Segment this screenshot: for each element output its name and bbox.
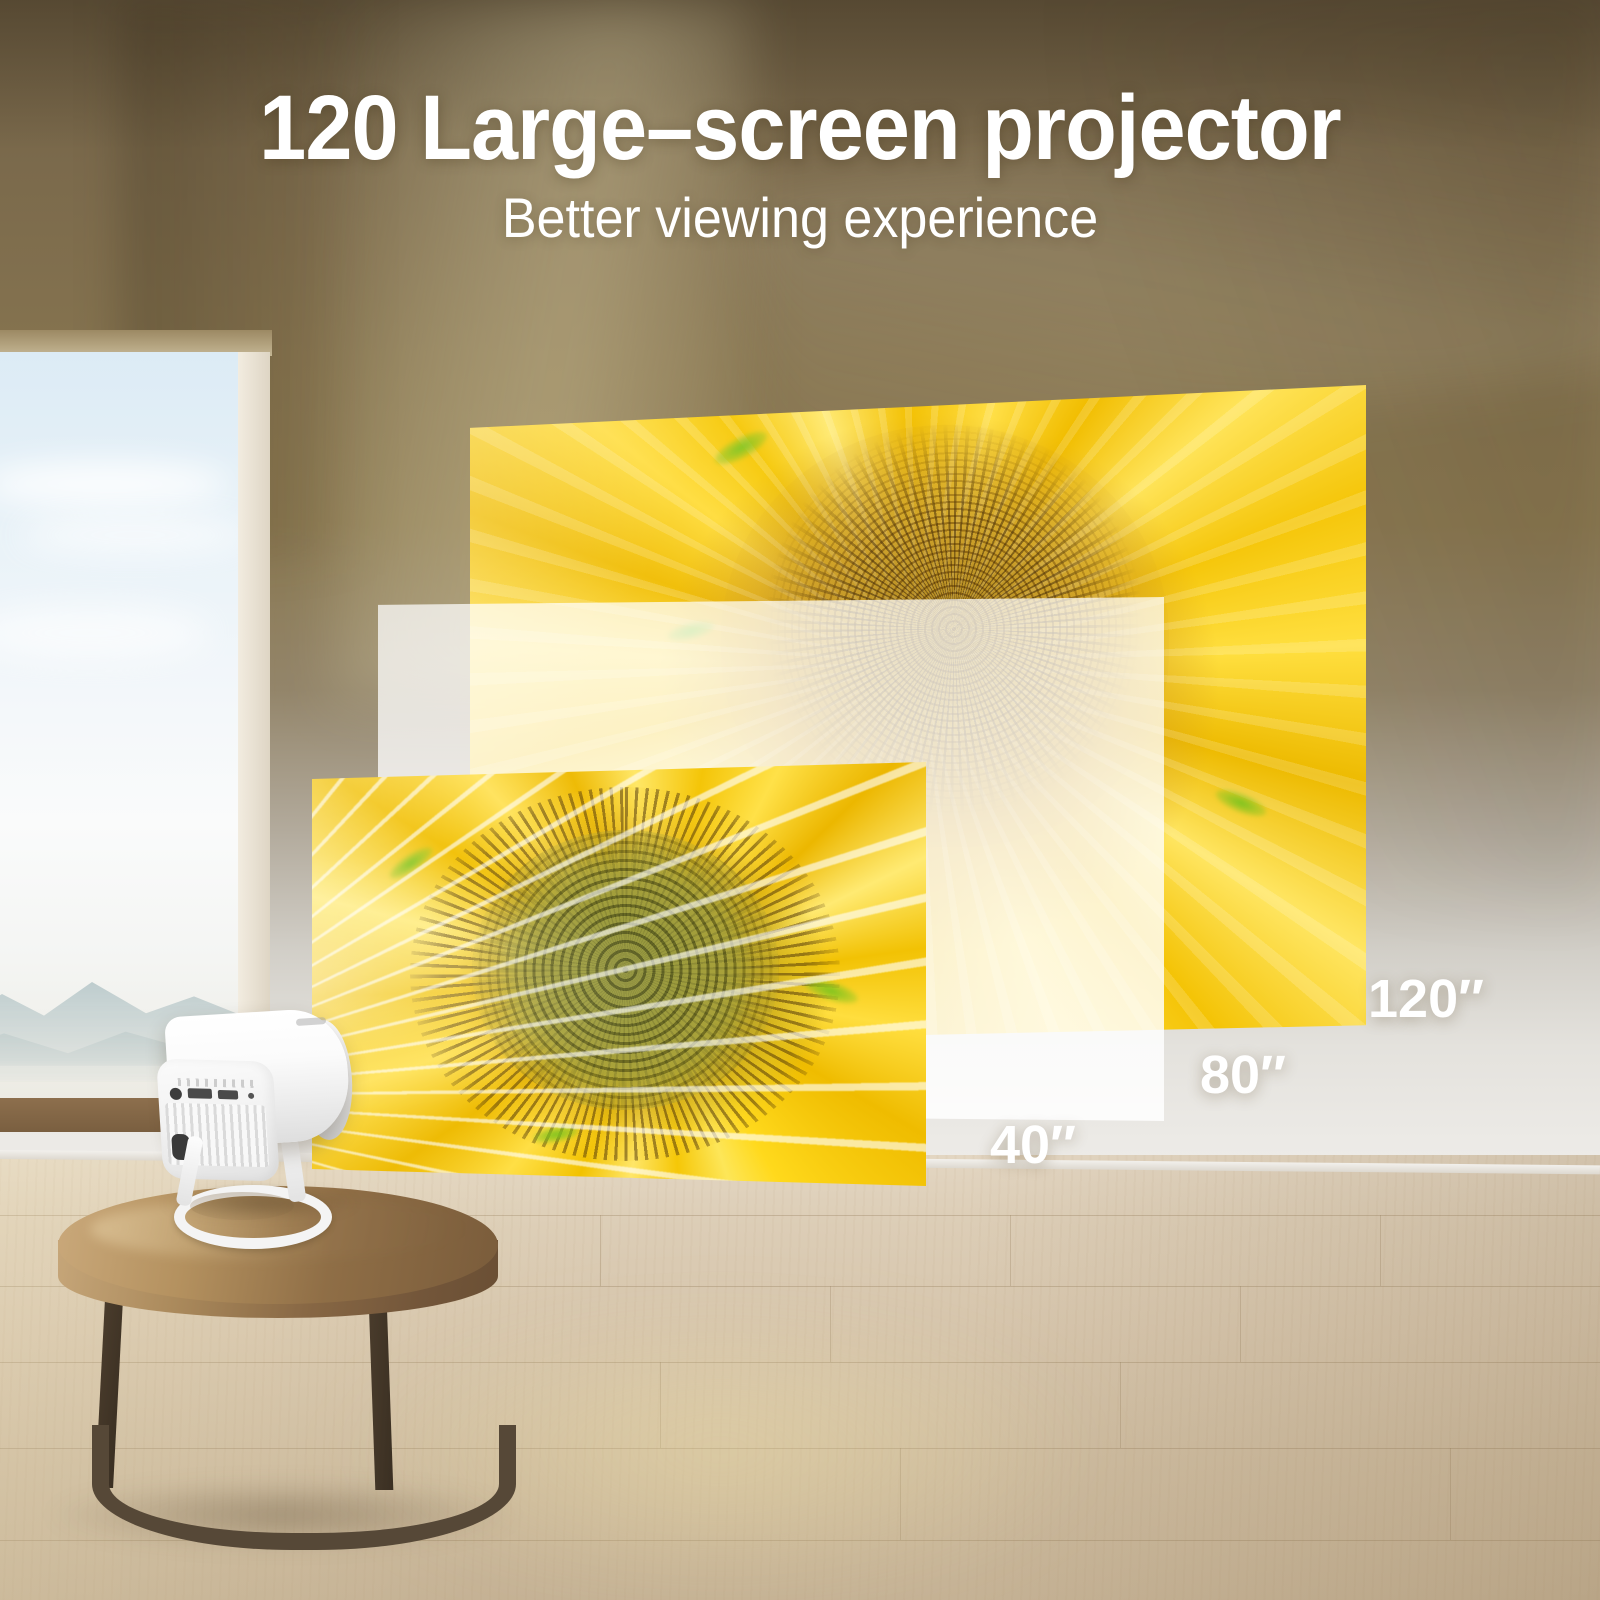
- cloud: [0, 462, 230, 506]
- projector-stand-ring-inner: [190, 1192, 294, 1220]
- indicator-led: [248, 1093, 254, 1099]
- product-marketing-image: 120 Large–screen projector Better viewin…: [0, 0, 1600, 1600]
- size-label-40: 40″: [990, 1118, 1076, 1172]
- audio-jack-port: [169, 1088, 182, 1100]
- size-label-80: 80″: [1200, 1048, 1286, 1102]
- hdmi-port: [188, 1088, 213, 1099]
- projection-screen-40: [312, 762, 926, 1186]
- window-jamb: [238, 352, 270, 1124]
- table-base-highlight: [92, 1425, 516, 1550]
- screen-sheen: [312, 762, 926, 1186]
- cloud: [20, 517, 240, 553]
- projector-port-row: [175, 1088, 260, 1102]
- window-glass: [0, 352, 240, 1112]
- page-title: 120 Large–screen projector: [64, 82, 1536, 174]
- cloud: [0, 607, 210, 659]
- size-label-120: 120″: [1368, 972, 1484, 1026]
- usb-port: [218, 1090, 239, 1100]
- page-subtitle: Better viewing experience: [56, 190, 1544, 246]
